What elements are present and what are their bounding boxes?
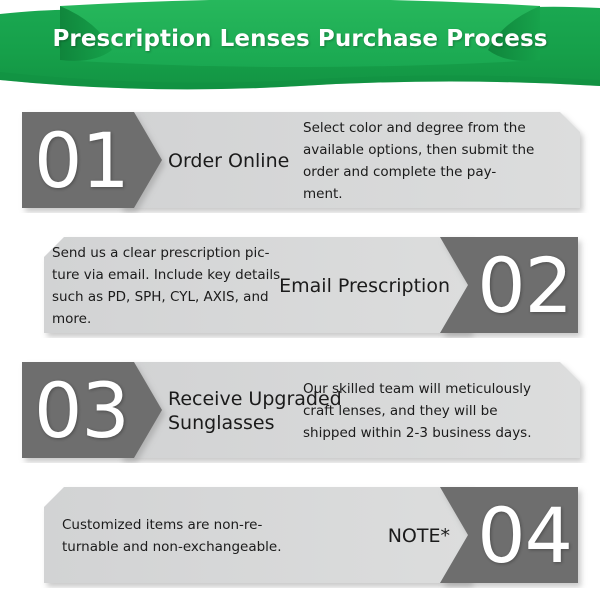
step-row-1: 01 Order Online Select color and degree … (0, 108, 600, 213)
header-banner: Prescription Lenses Purchase Process (0, 0, 600, 95)
step-4-number: 04 (477, 498, 572, 574)
step-row-2: 02 Email Prescription Send us a clear pr… (0, 233, 600, 338)
step-2-description: Send us a clear prescription pic- ture v… (52, 242, 302, 330)
step-1-number: 01 (34, 123, 129, 199)
step-1-description: Select color and degree from the availab… (303, 117, 545, 205)
step-4-description: Customized items are non-re- turnable an… (62, 514, 312, 558)
step-row-4: 04 NOTE* Customized items are non-re- tu… (0, 483, 600, 588)
step-3-description: Our skilled team will meticulously craft… (303, 378, 545, 444)
step-2-number: 02 (477, 248, 572, 324)
step-3-number: 03 (34, 373, 129, 449)
step-row-3: 03 Receive Upgraded Sunglasses Our skill… (0, 358, 600, 463)
page-title: Prescription Lenses Purchase Process (0, 26, 600, 52)
